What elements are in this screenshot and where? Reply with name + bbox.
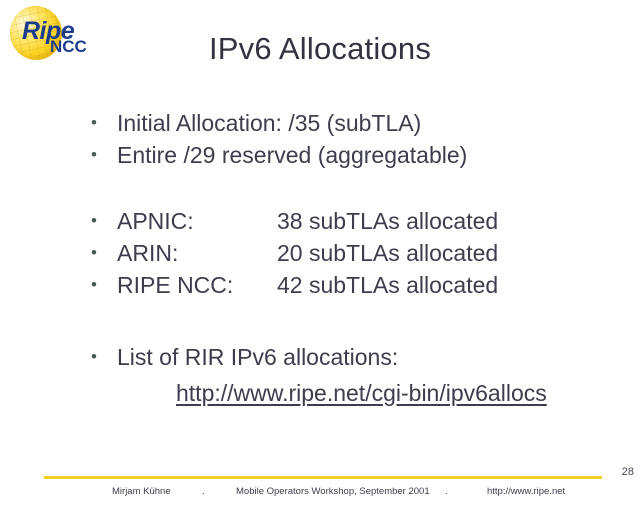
footer-website: http://www.ripe.net (487, 486, 565, 497)
bullet-text: Initial Allocation: /35 (subTLA) (117, 108, 421, 139)
bullet-icon: • (88, 108, 117, 138)
bullet-icon: • (88, 206, 117, 236)
bullet-icon: • (88, 270, 117, 300)
table-row: • ARIN:20 subTLAs allocated (88, 238, 608, 270)
allocations-link[interactable]: http://www.ripe.net/cgi-bin/ipv6allocs (176, 378, 547, 408)
footer-divider (44, 476, 602, 479)
footer-separator: . (445, 486, 448, 497)
page-number: 28 (622, 466, 634, 478)
bullet-icon: • (88, 140, 117, 170)
bullet-icon: • (88, 342, 117, 372)
page-title: IPv6 Allocations (0, 31, 640, 67)
footer-separator: . (202, 486, 205, 497)
table-row: • RIPE NCC:42 subTLAs allocated (88, 270, 608, 302)
bullet-icon: • (88, 238, 117, 268)
list-item: • Initial Allocation: /35 (subTLA) (88, 108, 608, 140)
registry-name: APNIC: (117, 206, 277, 237)
list-item: • List of RIR IPv6 allocations: (88, 342, 608, 374)
bullet-text: List of RIR IPv6 allocations: (117, 342, 398, 373)
footer-author: Mirjam Kühne (112, 486, 171, 497)
table-row: • APNIC:38 subTLAs allocated (88, 206, 608, 238)
list-item: • Entire /29 reserved (aggregatable) (88, 140, 608, 172)
spacer (88, 302, 608, 342)
allocations-link-row: http://www.ripe.net/cgi-bin/ipv6allocs (88, 374, 608, 408)
spacer (88, 172, 608, 206)
registry-name: RIPE NCC: (117, 270, 277, 301)
registry-allocation: 20 subTLAs allocated (277, 240, 498, 266)
bullet-text: Entire /29 reserved (aggregatable) (117, 140, 467, 171)
footer-event: Mobile Operators Workshop, September 200… (236, 486, 430, 497)
slide-body: • Initial Allocation: /35 (subTLA) • Ent… (88, 108, 608, 408)
registry-name: ARIN: (117, 238, 277, 269)
registry-allocation: 38 subTLAs allocated (277, 208, 498, 234)
registry-allocation: 42 subTLAs allocated (277, 272, 498, 298)
